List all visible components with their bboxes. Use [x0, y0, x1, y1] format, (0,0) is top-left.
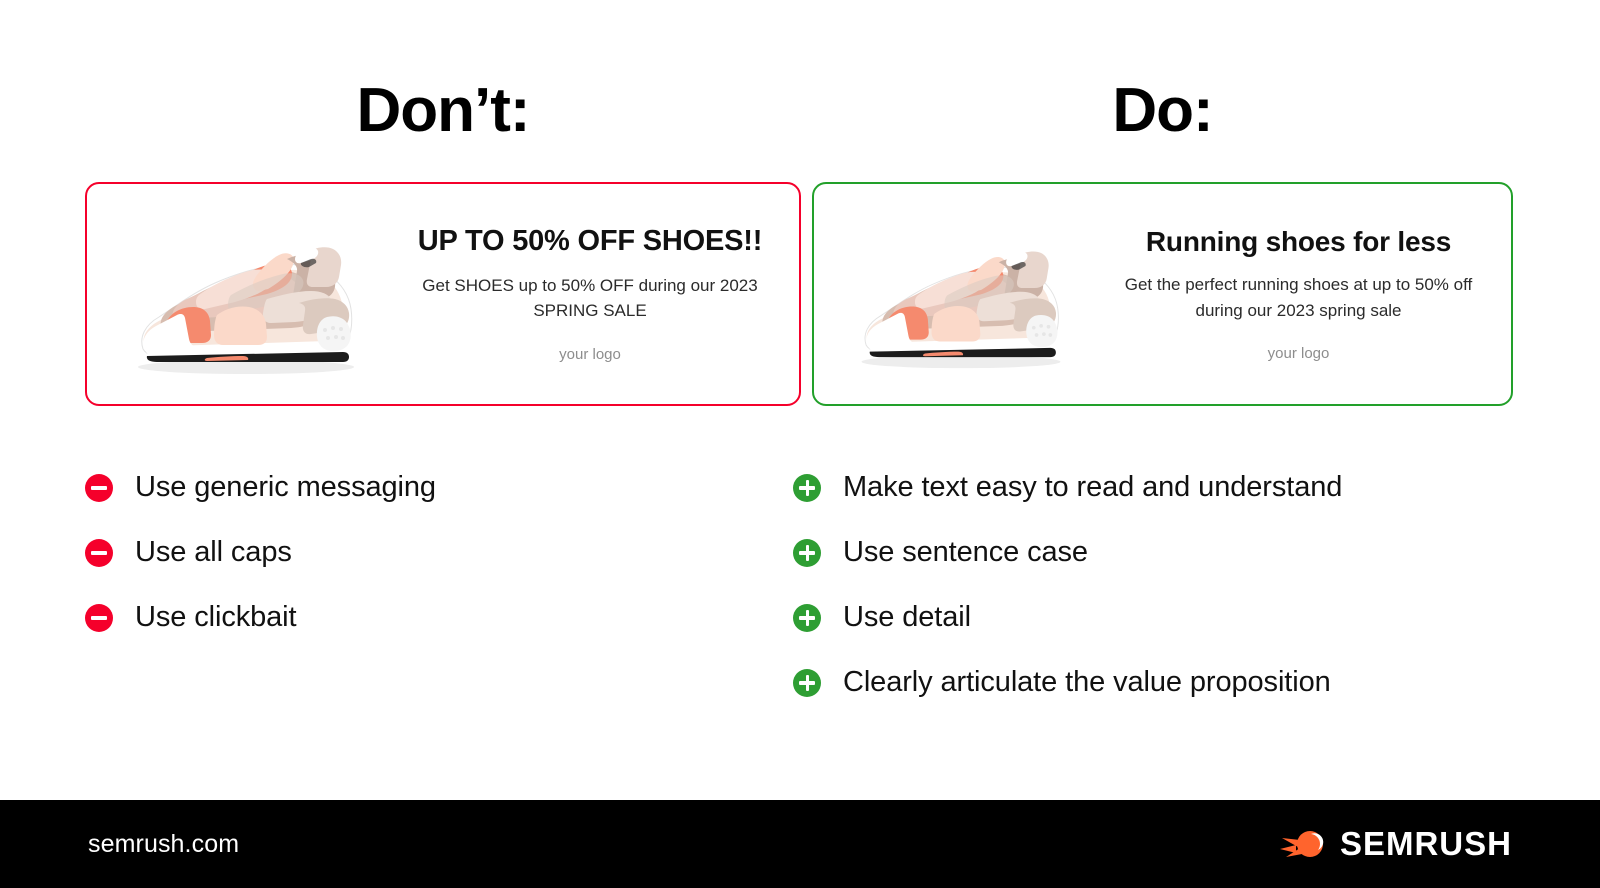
do-ad-headline: Running shoes for less [1104, 226, 1493, 258]
footer-bar: semrush.com SEMRUSH [0, 800, 1600, 888]
list-item: Use generic messaging [85, 455, 785, 520]
infographic-canvas: Don’t: Do: [0, 0, 1600, 888]
do-ad-subtext: Get the perfect running shoes at up to 5… [1104, 272, 1493, 323]
list-item-label: Clearly articulate the value proposition [843, 667, 1331, 699]
do-list: Make text easy to read and understand Us… [793, 455, 1533, 715]
list-item: Use clickbait [85, 585, 785, 650]
list-item: Use detail [793, 585, 1533, 650]
dont-ad-subtext: Get SHOES up to 50% OFF during our 2023 … [399, 273, 781, 324]
semrush-logo: SEMRUSH [1280, 825, 1512, 863]
list-item-label: Use detail [843, 602, 971, 634]
dont-ad-headline: UP TO 50% OFF SHOES!! [399, 225, 781, 258]
sneaker-illustration [111, 199, 381, 389]
list-item-label: Make text easy to read and understand [843, 472, 1342, 504]
footer-website-url: semrush.com [88, 830, 239, 859]
semrush-wordmark: SEMRUSH [1340, 825, 1512, 863]
list-item-label: Use generic messaging [135, 472, 436, 504]
do-ad-logo-placeholder: your logo [1104, 345, 1493, 362]
minus-circle-icon [85, 474, 113, 502]
do-ad-copy: Running shoes for less Get the perfect r… [1086, 226, 1511, 362]
list-item: Use all caps [85, 520, 785, 585]
plus-circle-icon [793, 669, 821, 697]
dont-ad-card: UP TO 50% OFF SHOES!! Get SHOES up to 50… [85, 182, 801, 406]
minus-circle-icon [85, 539, 113, 567]
plus-circle-icon [793, 474, 821, 502]
list-item: Use sentence case [793, 520, 1533, 585]
sneaker-illustration [836, 207, 1086, 382]
list-item: Make text easy to read and understand [793, 455, 1533, 520]
list-item-label: Use all caps [135, 537, 292, 569]
plus-circle-icon [793, 604, 821, 632]
list-item: Clearly articulate the value proposition [793, 650, 1533, 715]
plus-circle-icon [793, 539, 821, 567]
do-ad-card: Running shoes for less Get the perfect r… [812, 182, 1513, 406]
do-column-heading: Do: [812, 80, 1513, 142]
dont-list: Use generic messaging Use all caps Use c… [85, 455, 785, 650]
semrush-comet-icon [1280, 827, 1326, 861]
list-item-label: Use sentence case [843, 537, 1088, 569]
dont-ad-logo-placeholder: your logo [399, 346, 781, 363]
dont-ad-shoe-image [111, 199, 381, 389]
list-item-label: Use clickbait [135, 602, 296, 634]
minus-circle-icon [85, 604, 113, 632]
do-ad-shoe-image [836, 207, 1086, 382]
dont-ad-copy: UP TO 50% OFF SHOES!! Get SHOES up to 50… [381, 225, 799, 362]
dont-column-heading: Don’t: [85, 80, 801, 142]
